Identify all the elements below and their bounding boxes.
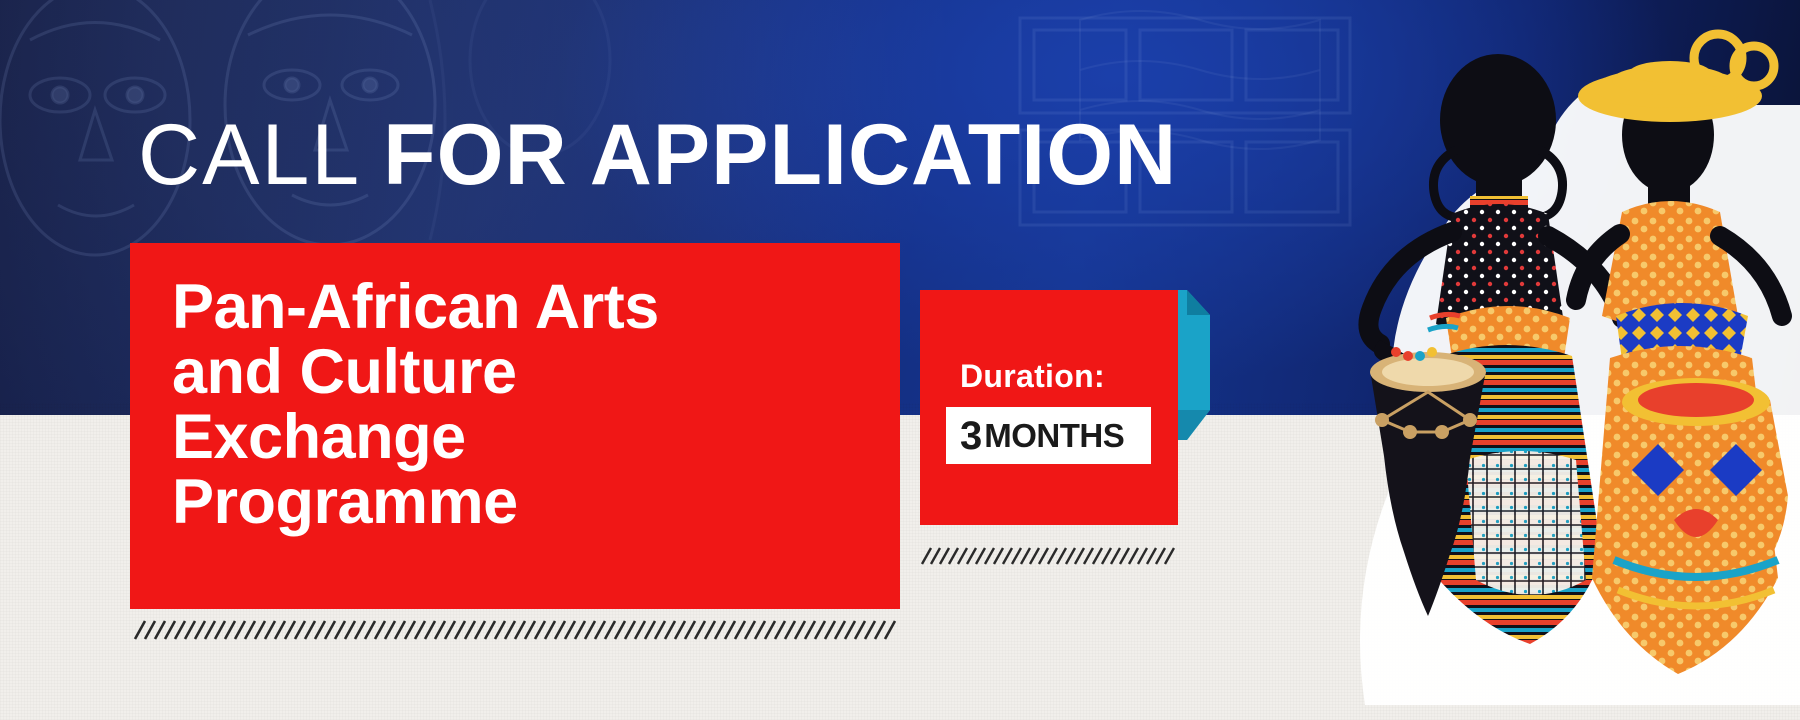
programme-title-line-4: Programme: [172, 470, 872, 535]
hatch-decoration-title: [133, 620, 898, 640]
duration-badge: Duration: 3 MONTHS: [920, 290, 1210, 540]
duration-value: 3: [960, 416, 982, 456]
headline-word-application: APPLICATION: [590, 112, 1178, 198]
programme-title-block: Pan-African Arts and Culture Exchange Pr…: [130, 243, 900, 609]
african-dancers-illustration: [1270, 0, 1800, 720]
hatch-decoration-duration: [920, 547, 1175, 565]
page-title: CALL FOR APPLICATION: [138, 112, 1177, 198]
call-for-application-banner: CALL FOR APPLICATION Pan-African Arts an…: [0, 0, 1800, 720]
duration-label: Duration:: [960, 358, 1105, 395]
headline-word-for: FOR: [383, 112, 568, 198]
duration-value-pill: 3 MONTHS: [946, 407, 1151, 464]
programme-title-line-3: Exchange: [172, 405, 872, 470]
programme-title: Pan-African Arts and Culture Exchange Pr…: [172, 275, 872, 535]
programme-title-line-1: Pan-African Arts: [172, 275, 872, 340]
programme-title-line-2: and Culture: [172, 340, 872, 405]
headline-word-call: CALL: [138, 112, 361, 198]
duration-unit: MONTHS: [984, 419, 1124, 452]
duration-box: Duration: 3 MONTHS: [920, 290, 1178, 525]
